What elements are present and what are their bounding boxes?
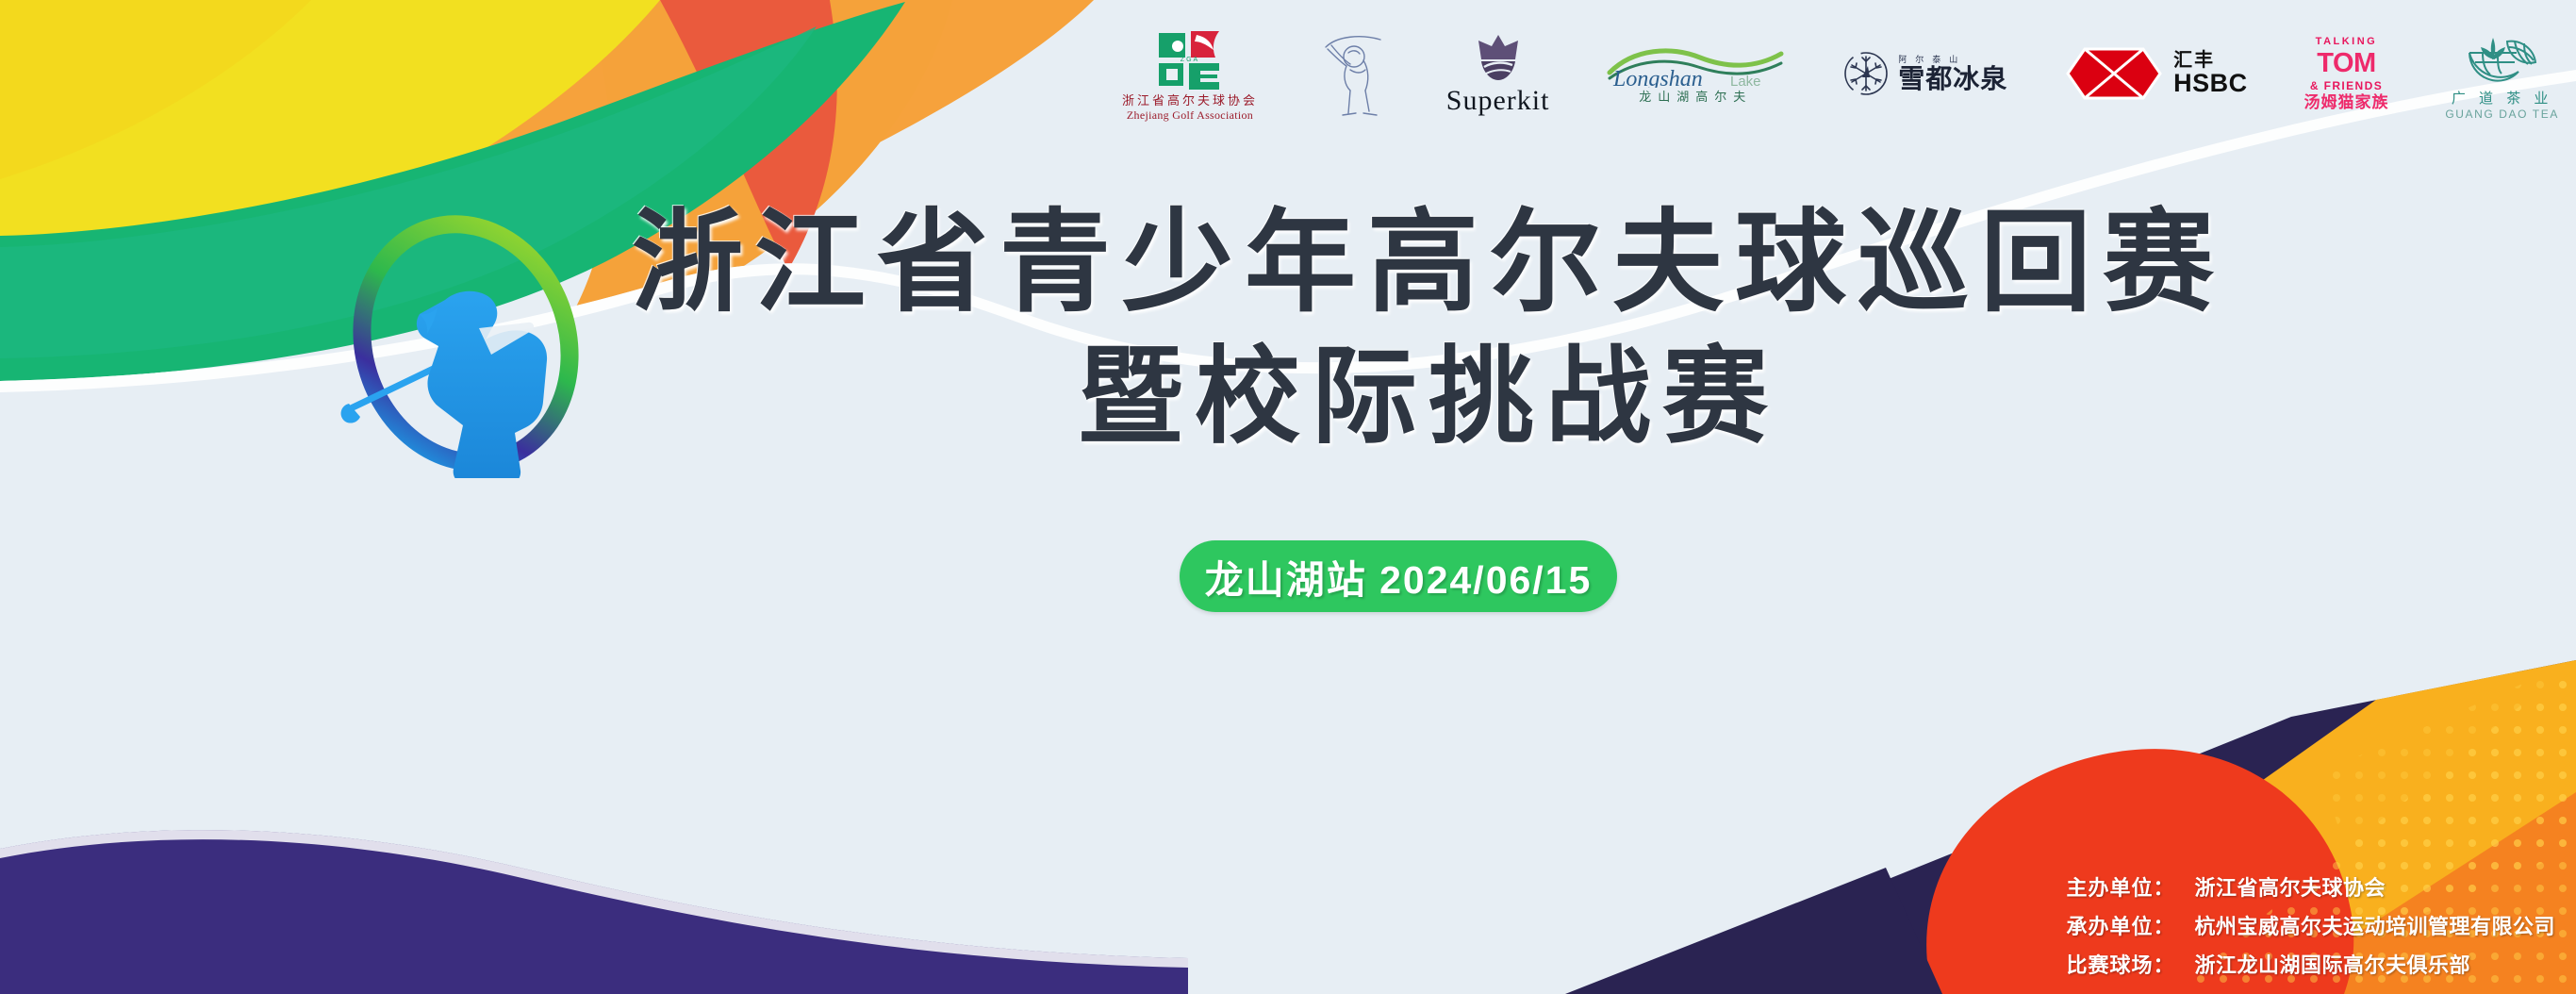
sponsor-talking-tom-and-friends: TALKING TOM & FRIENDS 汤姆猫家族 bbox=[2304, 37, 2388, 110]
credits-block: 主办单位： 浙江省高尔夫球协会 承办单位： 杭州宝威高尔夫运动培训管理有限公司 … bbox=[2066, 871, 2555, 979]
sponsor-hsbc: 汇丰 HSBC bbox=[2064, 43, 2248, 104]
sponsor-superkit: Superkit bbox=[1446, 33, 1550, 115]
longshan-wave-icon: Longshan Lake bbox=[1606, 44, 1785, 88]
credit-value: 浙江省高尔夫球协会 bbox=[2194, 871, 2386, 902]
sponsor-guang-dao-tea: 广 道 茶 业 GUANG DAO TEA bbox=[2445, 28, 2559, 120]
event-title: 浙江省青少年高尔夫球巡回赛 暨校际挑战赛 bbox=[603, 198, 2254, 462]
svg-text:ZGA: ZGA bbox=[1181, 57, 1199, 63]
sponsor-en-label: GUANG DAO TEA bbox=[2445, 108, 2559, 120]
sponsor-longshan-lake: Longshan Lake 龙山湖高尔夫 bbox=[1606, 44, 1785, 103]
sponsor-zh-label: 汇丰 bbox=[2173, 51, 2215, 70]
sponsor-wordmark: Superkit bbox=[1446, 87, 1550, 115]
credit-label: 主办单位： bbox=[2066, 871, 2194, 902]
sponsor-zh-label: 汤姆猫家族 bbox=[2304, 94, 2388, 110]
credit-label: 比赛球场： bbox=[2066, 949, 2194, 979]
credit-label: 承办单位： bbox=[2066, 910, 2194, 940]
credit-value: 杭州宝威高尔夫运动培训管理有限公司 bbox=[2194, 910, 2555, 940]
credit-row: 比赛球场： 浙江龙山湖国际高尔夫俱乐部 bbox=[2066, 949, 2470, 979]
svg-text:Longshan: Longshan bbox=[1612, 67, 1703, 88]
credit-row: 主办单位： 浙江省高尔夫球协会 bbox=[2066, 871, 2386, 902]
sponsor-zh-label: 浙江省高尔夫球协会 bbox=[1122, 94, 1258, 107]
sponsor-zhejiang-golf-association: ZGA 浙江省高尔夫球协会 Zhejiang Golf Association bbox=[1122, 27, 1258, 121]
date-badge-text: 龙山湖站 2024/06/15 bbox=[1205, 548, 1593, 605]
golfer-sketch-icon bbox=[1314, 28, 1390, 119]
credit-value: 浙江龙山湖国际高尔夫俱乐部 bbox=[2194, 949, 2470, 979]
sponsor-en-label: TOM bbox=[2317, 50, 2375, 77]
sponsor-en-label: Zhejiang Golf Association bbox=[1127, 109, 1253, 121]
credit-row: 承办单位： 杭州宝威高尔夫运动培训管理有限公司 bbox=[2066, 910, 2555, 940]
sponsor-en-label: HSBC bbox=[2173, 71, 2248, 96]
sponsor-mark-label: TALKING bbox=[2316, 37, 2378, 47]
title-line-primary: 浙江省青少年高尔夫球巡回赛 bbox=[603, 198, 2254, 329]
golfer-ring-emblem bbox=[332, 209, 601, 478]
sponsor-zh-label: 广 道 茶 业 bbox=[2452, 91, 2553, 106]
sponsor-logo-strip: ZGA 浙江省高尔夫球协会 Zhejiang Golf Association bbox=[1113, 0, 2576, 141]
snowflake-icon bbox=[1841, 49, 1891, 98]
sponsor-xuedu-ice-spring: 阿尔泰山 雪都冰泉 bbox=[1841, 49, 2007, 98]
title-line-secondary: 暨校际挑战赛 bbox=[603, 335, 2254, 461]
event-banner: ZGA 浙江省高尔夫球协会 Zhejiang Golf Association bbox=[0, 0, 2576, 994]
sponsor-zh-label: 龙山湖高尔夫 bbox=[1639, 91, 1752, 103]
background-artwork bbox=[0, 0, 2576, 994]
sponsor-sub-label: & FRIENDS bbox=[2310, 80, 2383, 91]
globe-leaf-icon bbox=[2462, 28, 2543, 89]
hsbc-hexagon-icon bbox=[2064, 43, 2164, 104]
sponsor-zh-label: 雪都冰泉 bbox=[1898, 66, 2007, 92]
svg-text:Lake: Lake bbox=[1730, 74, 1761, 88]
date-badge: 龙山湖站 2024/06/15 bbox=[1180, 540, 1617, 612]
sponsor-mark-label: 阿尔泰山 bbox=[1898, 56, 1966, 64]
crown-icon bbox=[1471, 33, 1526, 84]
sponsor-golfer-sketch bbox=[1314, 28, 1390, 119]
zga-logo-icon: ZGA bbox=[1155, 27, 1225, 91]
